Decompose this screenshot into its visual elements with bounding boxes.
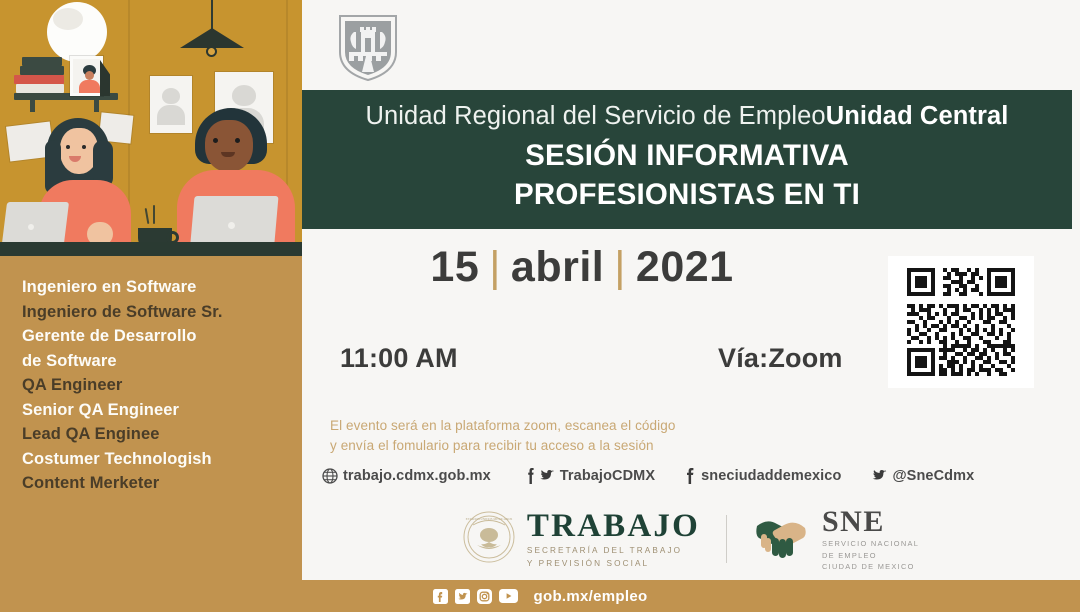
trabajo-logo: ESTADOS UNIDOS MEXICANOS TRABAJO SECRETA…: [463, 509, 700, 569]
twitter-icon: [869, 468, 887, 484]
left-column: Ingeniero en Software Ingeniero de Softw…: [0, 0, 302, 612]
book-icon: [22, 57, 62, 66]
sne-subtitle-line2: DE EMPLEO: [822, 551, 919, 561]
instagram-icon[interactable]: [477, 589, 492, 604]
job-title-item: Gerente de Desarrollo: [22, 324, 302, 349]
book-icon: [14, 75, 64, 84]
trabajo-logo-text: TRABAJO SECRETARÍA DEL TRABAJO Y PREVISI…: [527, 509, 700, 569]
footer-bar: gob.mx/empleo: [0, 580, 1080, 612]
poster-canvas: Ingeniero en Software Ingeniero de Softw…: [0, 0, 1080, 612]
event-year: 2021: [636, 243, 734, 291]
svg-text:ESTADOS UNIDOS MEXICANOS: ESTADOS UNIDOS MEXICANOS: [466, 517, 513, 521]
social-link-trabajocdmx[interactable]: TrabajoCDMX: [527, 468, 655, 484]
facebook-label: sneciudaddemexico: [701, 468, 841, 484]
cdmx-coat-of-arms-icon: [336, 12, 400, 82]
steam-icon: [145, 208, 150, 224]
logo-bar: ESTADOS UNIDOS MEXICANOS TRABAJO SECRETA…: [302, 500, 1080, 578]
pendant-lamp-icon: [180, 28, 244, 48]
facebook-icon: [685, 468, 696, 484]
instructions-line1: El evento será en la plataforma zoom, es…: [330, 416, 850, 436]
social-link-website[interactable]: trabajo.cdmx.gob.mx: [322, 468, 491, 484]
job-title-item: QA Engineer: [22, 373, 302, 398]
facebook-twitter-icon: [527, 468, 555, 484]
social-link-twitter[interactable]: @SneCdmx: [869, 468, 974, 484]
green-title-band: Unidad Regional del Servicio de EmpleoUn…: [302, 90, 1072, 229]
trabajo-wordmark: TRABAJO: [527, 509, 700, 543]
handshake-icon: [753, 512, 809, 567]
date-separator: |: [479, 243, 511, 291]
website-label: trabajo.cdmx.gob.mx: [343, 468, 491, 484]
youtube-icon[interactable]: [499, 589, 518, 603]
social-links-bar: trabajo.cdmx.gob.mx TrabajoCDMX sneciuda…: [322, 468, 1062, 484]
twitter-icon[interactable]: [455, 589, 470, 604]
sne-logo: SNE SERVICIO NACIONAL DE EMPLEO CIUDAD D…: [753, 506, 919, 572]
unit-prefix-text: Unidad Regional del Servicio de Empleo: [365, 102, 825, 130]
job-title-item: Costumer Technologish: [22, 447, 302, 472]
lamp-cord-icon: [211, 0, 213, 30]
shelf-leg-right: [94, 99, 99, 112]
job-title-item: Ingeniero de Software Sr.: [22, 300, 302, 325]
sne-subtitle-line3: CIUDAD DE MEXICO: [822, 562, 919, 572]
event-title-line1: SESIÓN INFORMATIVA: [302, 137, 1072, 174]
trabajocdmx-label: TrabajoCDMX: [560, 468, 655, 484]
job-title-item: Content Merketer: [22, 471, 302, 496]
event-date: 15|abril|2021: [302, 243, 862, 292]
twitter-label: @SneCdmx: [892, 468, 974, 484]
event-month: abril: [511, 243, 604, 291]
unit-bold-text: Unidad Central: [826, 102, 1009, 130]
qr-code-icon[interactable]: [888, 256, 1034, 388]
framed-portrait-icon: [70, 56, 103, 96]
desk-icon: [0, 242, 302, 256]
book-icon: [20, 66, 64, 75]
job-title-item: de Software: [22, 349, 302, 374]
instructions-line2: y envía el fomulario para recibir tu acc…: [330, 436, 850, 456]
job-title-item: Senior QA Engineer: [22, 398, 302, 423]
event-title-line2: PROFESIONISTAS EN TI: [302, 176, 1072, 213]
event-platform: Vía:Zoom: [718, 343, 843, 374]
job-titles-list: Ingeniero en Software Ingeniero de Softw…: [0, 262, 302, 496]
ceiling-light-icon: [47, 2, 107, 62]
event-instructions: El evento será en la plataforma zoom, es…: [330, 416, 850, 455]
facebook-icon[interactable]: [433, 589, 448, 604]
mexico-national-seal-icon: ESTADOS UNIDOS MEXICANOS: [463, 511, 515, 568]
trabajo-subtitle-line2: Y PREVISIÓN SOCIAL: [527, 558, 700, 569]
sne-wordmark: SNE: [822, 506, 919, 537]
unit-line: Unidad Regional del Servicio de EmpleoUn…: [302, 101, 1072, 131]
workspace-illustration: [0, 0, 302, 256]
sne-subtitle-line1: SERVICIO NACIONAL: [822, 539, 919, 549]
frame-stand: [100, 60, 110, 96]
light-bulb-icon: [206, 46, 217, 57]
job-title-item: Ingeniero en Software: [22, 275, 302, 300]
social-link-facebook[interactable]: sneciudaddemexico: [685, 468, 841, 484]
sne-logo-text: SNE SERVICIO NACIONAL DE EMPLEO CIUDAD D…: [822, 506, 919, 572]
logo-divider: [726, 515, 727, 563]
shelf-leg-left: [30, 99, 35, 112]
event-time: 11:00 AM: [340, 343, 458, 374]
footer-url[interactable]: gob.mx/empleo: [534, 588, 648, 605]
date-separator: |: [604, 243, 636, 291]
job-title-item: Lead QA Enginee: [22, 422, 302, 447]
steam-icon: [153, 205, 155, 224]
event-day: 15: [430, 243, 479, 291]
book-icon: [16, 84, 64, 93]
globe-icon: [322, 468, 338, 484]
face-icon: [205, 120, 253, 172]
trabajo-subtitle-line1: SECRETARÍA DEL TRABAJO: [527, 545, 700, 556]
